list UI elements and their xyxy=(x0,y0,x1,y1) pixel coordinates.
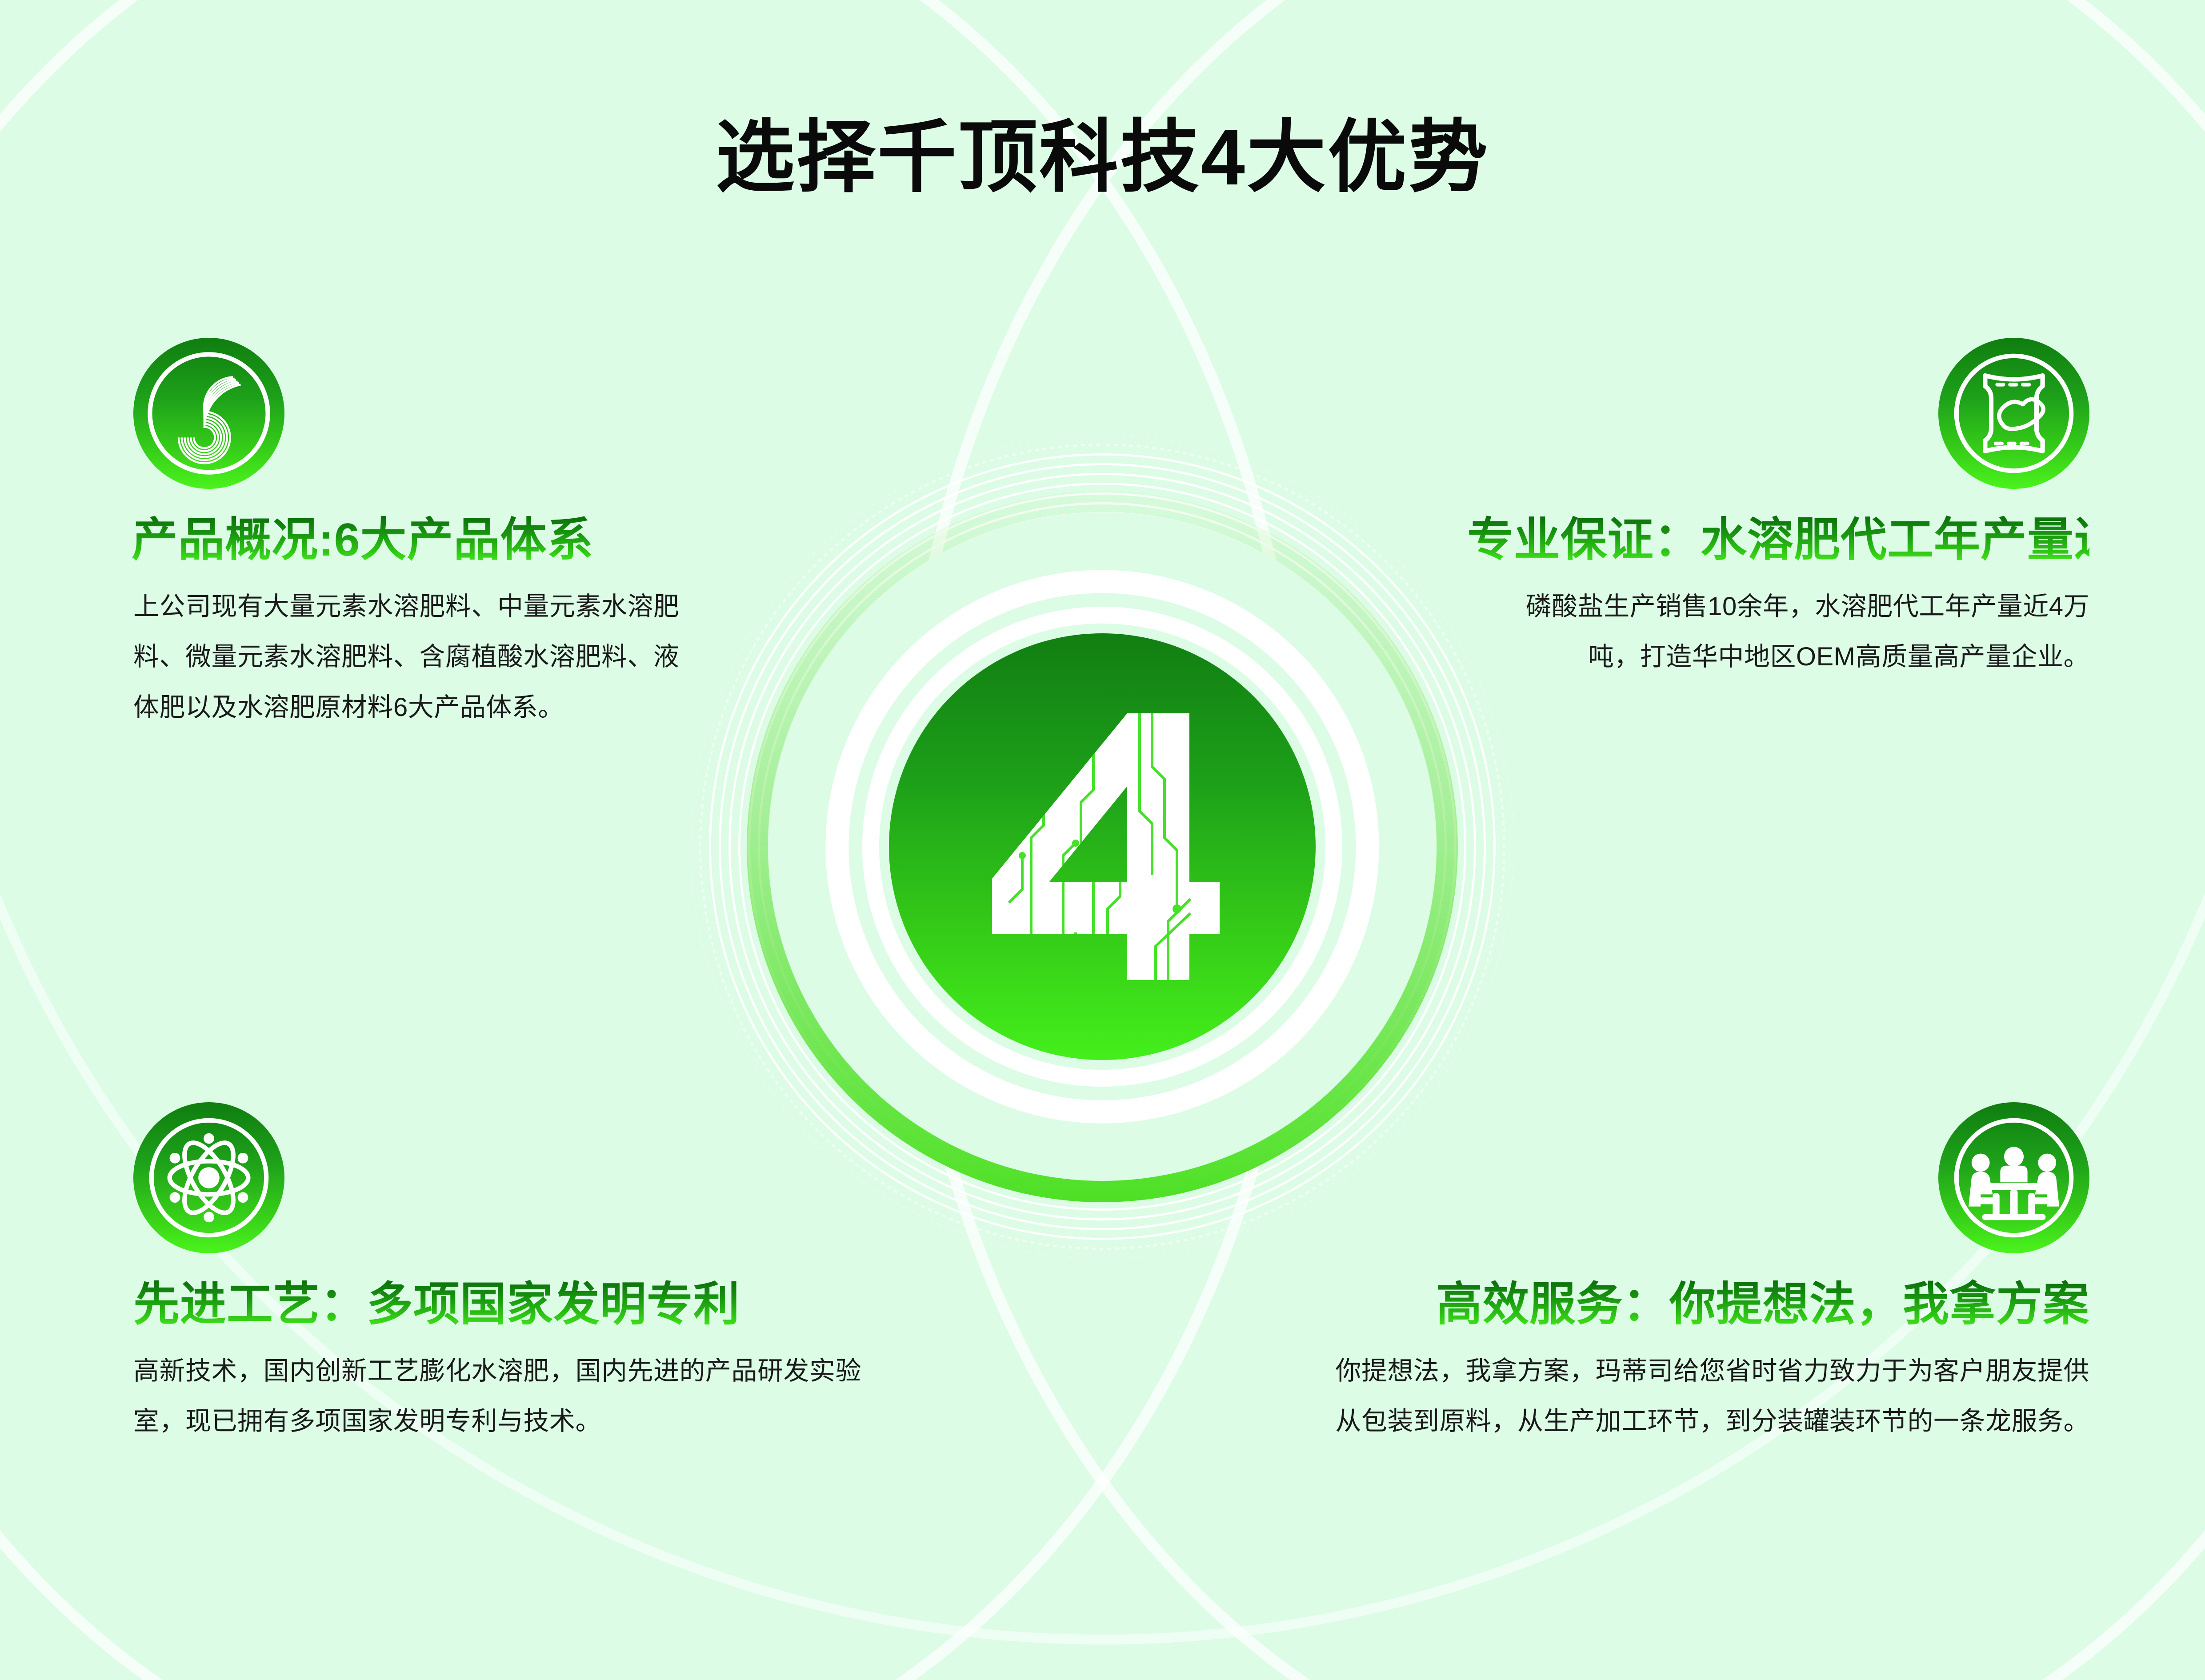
feature-heading: 专业保证：水溶肥代工年产量近4万吨 xyxy=(1467,515,2089,565)
circuit-number-four-icon xyxy=(978,704,1227,989)
badge-fertilizer-bag xyxy=(1938,338,2089,489)
feature-top-right: 专业保证：水溶肥代工年产量近4万吨 磷酸盐生产销售10余年，水溶肥代工年产量近4… xyxy=(1467,338,2089,682)
feature-heading: 产品概况:6大产品体系 xyxy=(132,515,711,565)
atom-icon xyxy=(133,1102,284,1253)
feature-body: 上公司现有大量元素水溶肥料、中量元素水溶肥料、微量元素水溶肥料、含腐植酸水溶肥料… xyxy=(133,581,680,732)
feature-heading: 高效服务：你提想法，我拿方案 xyxy=(1289,1279,2089,1330)
center-disc xyxy=(889,633,1316,1060)
feature-body: 你提想法，我拿方案，玛蒂司给您省时省力致力于为客户朋友提供从包装到原料，从生产加… xyxy=(1316,1346,2089,1446)
badge-six-spiral xyxy=(133,338,284,489)
feature-bottom-left: 先进工艺：多项国家发明专利 高新技术，国内创新工艺膨化水溶肥，国内先进的产品研发… xyxy=(133,1102,916,1447)
six-spiral-icon xyxy=(133,338,284,489)
fertilizer-bag-icon xyxy=(1938,338,2089,489)
feature-heading: 先进工艺：多项国家发明专利 xyxy=(133,1279,916,1330)
page-title: 选择千顶科技4大优势 xyxy=(0,93,2205,208)
badge-meeting-table xyxy=(1938,1102,2089,1253)
feature-top-left: 产品概况:6大产品体系 上公司现有大量元素水溶肥料、中量元素水溶肥料、微量元素水… xyxy=(133,338,711,732)
feature-bottom-right: 高效服务：你提想法，我拿方案 你提想法，我拿方案，玛蒂司给您省时省力致力于为客户… xyxy=(1289,1102,2089,1447)
feature-body: 高新技术，国内创新工艺膨化水溶肥，国内先进的产品研发实验室，现已拥有多项国家发明… xyxy=(133,1346,880,1446)
feature-body: 磷酸盐生产销售10余年，水溶肥代工年产量近4万吨，打造华中地区OEM高质量高产量… xyxy=(1503,581,2089,682)
badge-atom xyxy=(133,1102,284,1253)
meeting-table-icon xyxy=(1938,1102,2089,1253)
